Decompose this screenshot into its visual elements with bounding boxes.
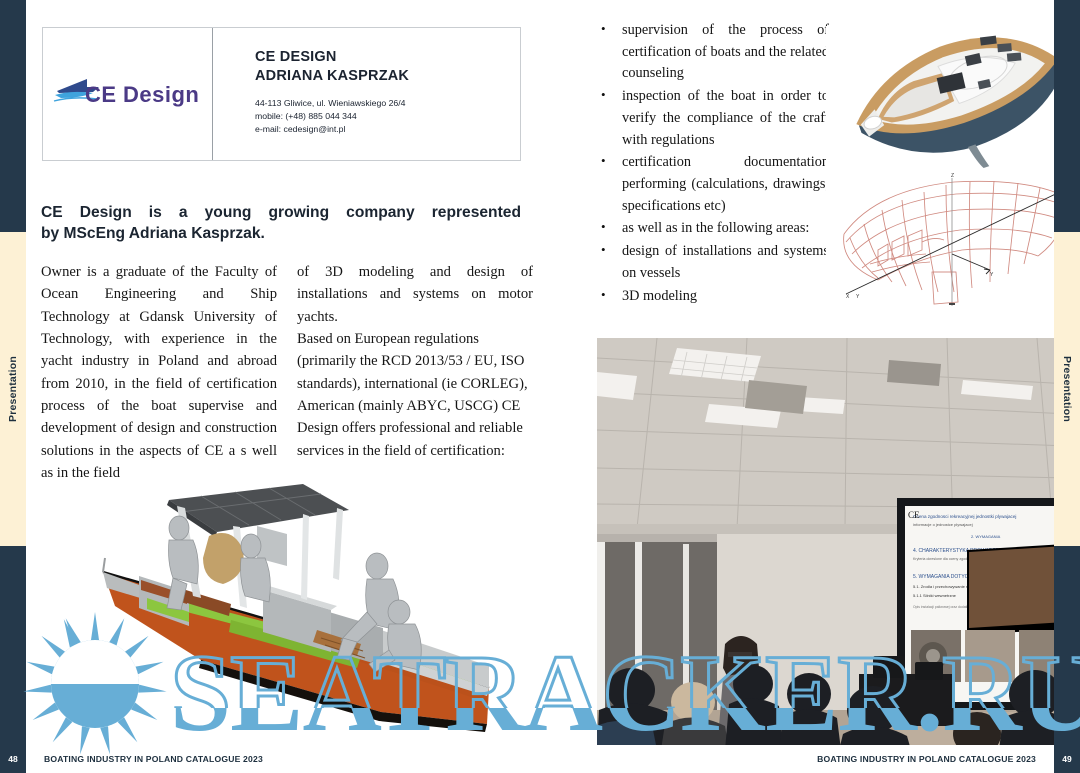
svg-text:Ocena zgodnosci rekreacyjnej j: Ocena zgodnosci rekreacyjnej jednostki p… xyxy=(913,514,1016,519)
card-address: 44-113 Gliwice, ul. Wieniawskiego 26/4 xyxy=(255,97,520,110)
card-email: e-mail: cedesign@int.pl xyxy=(255,123,520,136)
business-card-logo-cell: CE Design xyxy=(43,28,213,160)
body-paragraph-left: Owner is a graduate of the Faculty of Oc… xyxy=(41,261,277,484)
svg-text:informacje o jednostce plywaja: informacje o jednostce plywajacej xyxy=(913,522,973,527)
body-paragraph-right-1: of 3D modeling and design of installatio… xyxy=(297,261,533,328)
list-item: certification documentation performing (… xyxy=(596,152,829,217)
business-card-box: CE Design CE DESIGN ADRIANA KASPRZAK 44-… xyxy=(42,27,521,161)
ce-design-logo: CE Design xyxy=(53,74,203,114)
list-item: inspection of the boat in order to verif… xyxy=(596,86,829,151)
footer-text-right: BOATING INDUSTRY IN POLAND CATALOGUE 202… xyxy=(817,745,1036,773)
magazine-spread-page: CE Design CE DESIGN ADRIANA KASPRZAK 44-… xyxy=(0,0,1080,773)
body-columns: Owner is a graduate of the Faculty of Oc… xyxy=(41,261,533,484)
intro-heading: CE Design is a young growing company rep… xyxy=(41,202,521,244)
business-card-details: CE DESIGN ADRIANA KASPRZAK 44-113 Gliwic… xyxy=(213,28,520,160)
list-item: as well as in the following areas: xyxy=(596,218,829,240)
card-mobile: mobile: (+48) 885 044 344 xyxy=(255,110,520,123)
sidebar-tab-label: Presentation xyxy=(1061,356,1073,422)
boat-render-top-image xyxy=(826,26,1080,174)
svg-text:CE: CE xyxy=(85,82,117,107)
conference-photo: Ocena zgodnosci rekreacyjnej jednostki p… xyxy=(597,338,1070,750)
svg-text:CE: CE xyxy=(908,510,920,520)
page-number-right: 49 xyxy=(1054,745,1080,773)
body-column-right: of 3D modeling and design of installatio… xyxy=(297,261,533,484)
intro-heading-line2: by MScEng Adriana Kasprzak. xyxy=(41,223,521,244)
card-person-name: ADRIANA KASPRZAK xyxy=(255,67,520,86)
body-column-left: Owner is a graduate of the Faculty of Oc… xyxy=(41,261,277,484)
footer-bar: 48 49 BOATING INDUSTRY IN POLAND CATALOG… xyxy=(0,745,1080,773)
sidebar-tab-presentation-right[interactable]: Presentation xyxy=(1054,232,1080,546)
sidebar-tab-label: Presentation xyxy=(7,356,19,422)
list-item: 3D modeling xyxy=(596,286,829,308)
list-item: supervision of the process of certificat… xyxy=(596,20,829,85)
page-spread-body: CE Design CE DESIGN ADRIANA KASPRZAK 44-… xyxy=(26,0,1054,773)
hull-wireframe-image: X Y Y Z xyxy=(826,172,1080,312)
page-number-left: 48 xyxy=(0,745,26,773)
services-list: supervision of the process of certificat… xyxy=(596,20,829,308)
boat-render-bottom-image xyxy=(81,480,551,755)
list-item: design of installations and systems on v… xyxy=(596,241,829,284)
svg-text:2. WYMAGANIA: 2. WYMAGANIA xyxy=(971,534,1001,539)
footer-text-left: BOATING INDUSTRY IN POLAND CATALOGUE 202… xyxy=(44,745,263,773)
body-paragraph-right-2: Based on European regulations (primarily… xyxy=(297,328,533,462)
svg-text:5.1.1 Silniki wewnetrzne: 5.1.1 Silniki wewnetrzne xyxy=(913,593,957,598)
sidebar-tab-presentation-left[interactable]: Presentation xyxy=(0,232,26,546)
svg-text:Z: Z xyxy=(951,173,954,179)
svg-text:Design: Design xyxy=(123,82,199,107)
intro-heading-line1: CE Design is a young growing company rep… xyxy=(41,202,521,223)
card-company-name: CE DESIGN xyxy=(255,48,520,67)
boat-wave-icon: CE Design xyxy=(53,74,203,114)
